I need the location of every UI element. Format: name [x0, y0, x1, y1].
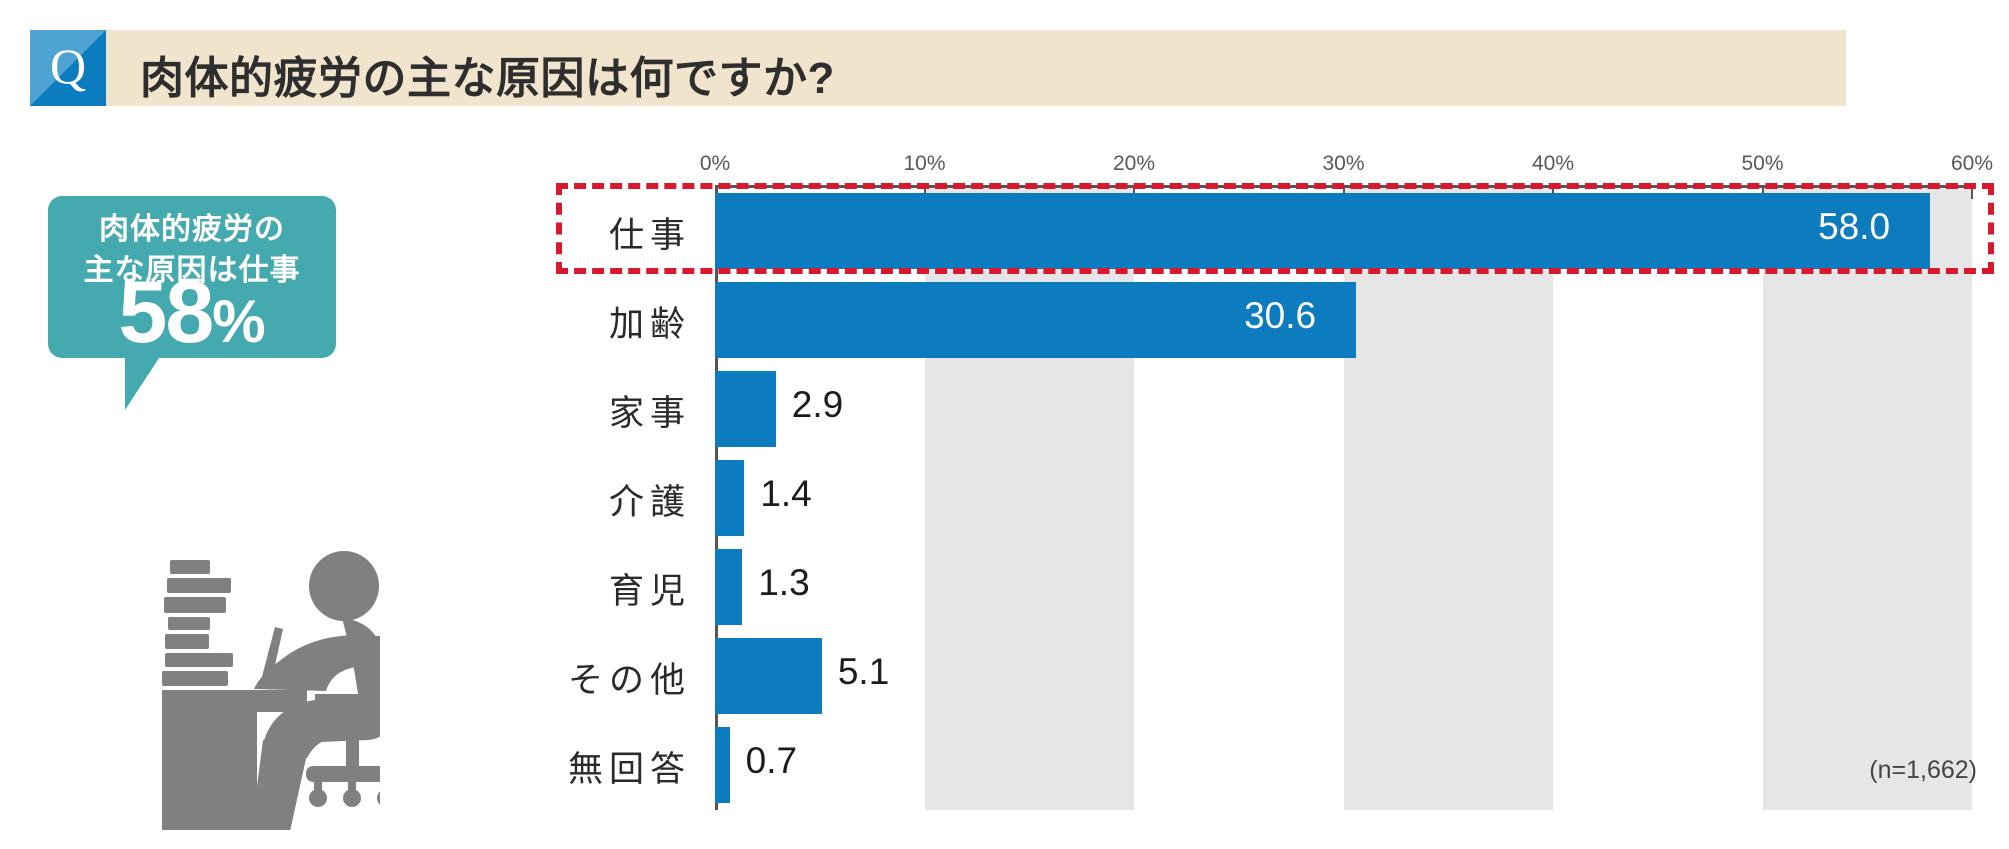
chart-bar: [715, 371, 776, 447]
x-axis-tick-label: 40%: [1532, 152, 1574, 176]
chart-value-label: 2.9: [792, 384, 843, 426]
chart-background-band: [1344, 186, 1554, 810]
horizontal-bar-chart: 0%10%20%30%40%50%60%仕事58.0加齢30.6家事2.9介護1…: [0, 0, 2009, 849]
chart-category-label: 育児: [455, 563, 691, 614]
chart-bar: [715, 549, 742, 625]
chart-category-label: 介護: [455, 474, 691, 525]
x-axis-tick-label: 20%: [1113, 152, 1155, 176]
chart-background-band: [1763, 186, 1973, 810]
x-axis-tick-label: 10%: [903, 152, 945, 176]
x-axis-tick-label: 60%: [1951, 152, 1993, 176]
slide-canvas: Q 肉体的疲労の主な原因は何ですか? 肉体的疲労の 主な原因は仕事 58%: [0, 0, 2009, 849]
chart-category-label: 家事: [455, 385, 691, 436]
chart-value-label: 1.3: [758, 562, 809, 604]
chart-category-label: 無回答: [455, 741, 691, 792]
chart-bar: [715, 460, 744, 536]
chart-value-label: 1.4: [760, 473, 811, 515]
chart-value-label: 0.7: [746, 740, 797, 782]
chart-value-label: 30.6: [1244, 295, 1316, 337]
x-axis-tick-label: 50%: [1741, 152, 1783, 176]
chart-background-band: [925, 186, 1135, 810]
chart-bar: [715, 727, 730, 803]
chart-bar: [715, 638, 822, 714]
sample-size-note: (n=1,662): [1869, 756, 1977, 785]
highlight-box-first-row: [556, 183, 1994, 274]
x-axis-tick-label: 0%: [700, 152, 730, 176]
chart-category-label: 加齢: [455, 296, 691, 347]
chart-value-label: 5.1: [838, 651, 889, 693]
chart-category-label: その他: [455, 652, 691, 703]
x-axis-tick-label: 30%: [1322, 152, 1364, 176]
